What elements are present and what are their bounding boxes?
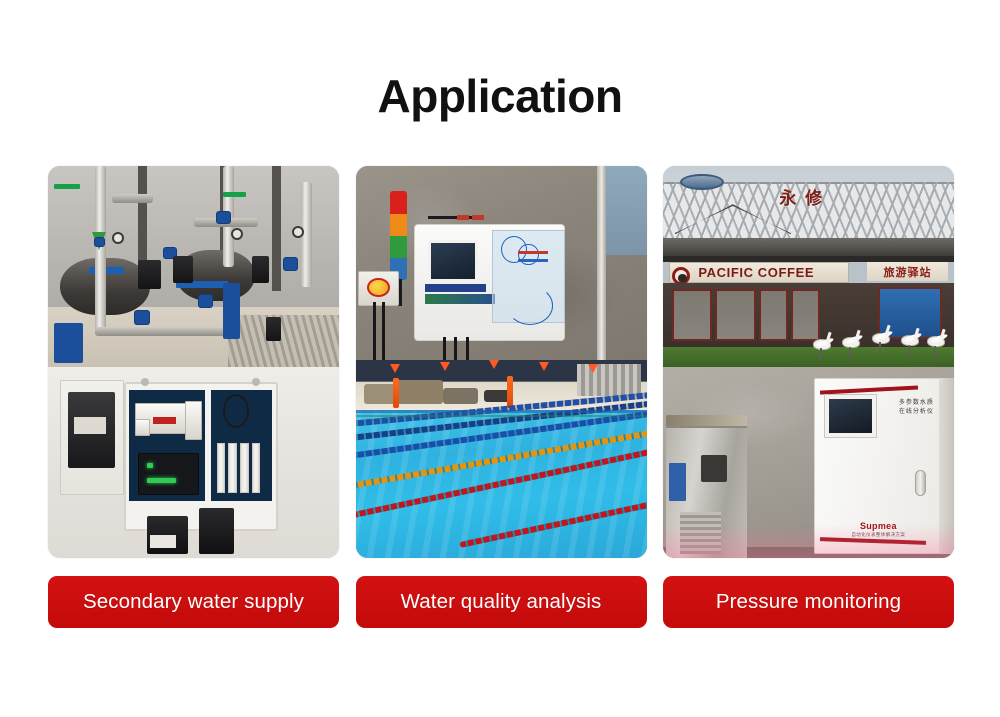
- photo-stack: 永 修 PACIFIC COFFEE 旅游驿站: [663, 166, 954, 558]
- application-grid: Secondary water supply: [48, 166, 954, 628]
- application-card-pressure-monitoring[interactable]: 永 修 PACIFIC COFFEE 旅游驿站: [663, 166, 954, 628]
- shop-sign-text: PACIFIC COFFEE: [698, 265, 814, 280]
- control-cabinet-photo: [48, 367, 339, 558]
- page-title: Application: [0, 72, 1000, 120]
- side-sign-chinese: 旅游驿站: [867, 262, 948, 280]
- label-secondary-water-supply[interactable]: Secondary water supply: [48, 576, 339, 628]
- label-water-quality-analysis[interactable]: Water quality analysis: [356, 576, 647, 628]
- wall-analyzer-photo: [356, 166, 647, 360]
- storefront-photo: 永 修 PACIFIC COFFEE 旅游驿站: [663, 166, 954, 367]
- cabinet-label-chinese: 多参数水质 在线分析仪: [899, 399, 934, 417]
- label-pressure-monitoring[interactable]: Pressure monitoring: [663, 576, 954, 628]
- pump-room-photo: [48, 166, 339, 367]
- supmea-cabinet-photo: 多参数水质 在线分析仪 Supmea 自动化仪表整体解决方案: [663, 367, 954, 558]
- stack-light-icon: [390, 191, 407, 280]
- roof-sign-chinese: 永 修: [779, 184, 824, 209]
- cabinet-handle[interactable]: [915, 470, 926, 496]
- application-card-water-quality-analysis[interactable]: Water quality analysis: [356, 166, 647, 628]
- photo-stack: [48, 166, 339, 558]
- analyzer-screen: [825, 395, 875, 437]
- application-card-secondary-water-supply[interactable]: Secondary water supply: [48, 166, 339, 628]
- application-slide: Application: [0, 0, 1000, 717]
- swimming-pool-photo: [356, 360, 647, 558]
- photo-stack: [356, 166, 647, 558]
